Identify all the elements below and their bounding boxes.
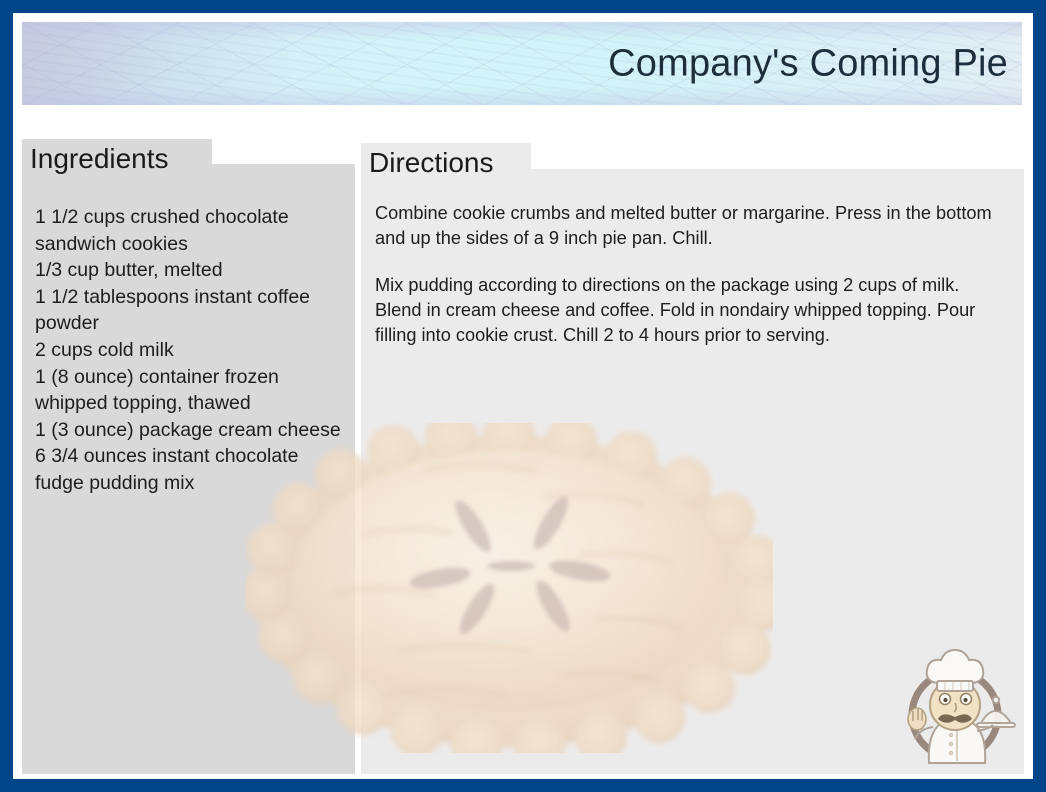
chef-logo [893,643,1021,771]
directions-text: Combine cookie crumbs and melted butter … [375,201,1010,370]
directions-paragraph: Mix pudding according to directions on t… [375,273,1010,348]
ingredient-line: 1 (3 ounce) package cream cheese [35,417,347,444]
recipe-title: Company's Coming Pie [608,42,1008,85]
ingredient-line: 1 (8 ounce) container frozen whipped top… [35,364,347,417]
directions-paragraph: Combine cookie crumbs and melted butter … [375,201,1010,251]
ingredient-line: 1 1/2 cups crushed chocolate sandwich co… [35,204,347,257]
ingredient-line: 1/3 cup butter, melted [35,257,347,284]
directions-heading: Directions [361,143,531,183]
ingredients-heading: Ingredients [22,139,212,179]
ingredient-line: 1 1/2 tablespoons instant coffee powder [35,284,347,337]
ingredients-list: 1 1/2 cups crushed chocolate sandwich co… [35,204,347,497]
ingredient-line: 2 cups cold milk [35,337,347,364]
recipe-card: Company's Coming Pie Ingredients 1 1/2 c… [0,0,1046,792]
card-inner-surface: Company's Coming Pie Ingredients 1 1/2 c… [13,13,1033,779]
title-banner: Company's Coming Pie [22,22,1022,105]
ingredient-line: 6 3/4 ounces instant chocolate fudge pud… [35,443,347,496]
ingredients-panel: 1 1/2 cups crushed chocolate sandwich co… [22,164,355,774]
